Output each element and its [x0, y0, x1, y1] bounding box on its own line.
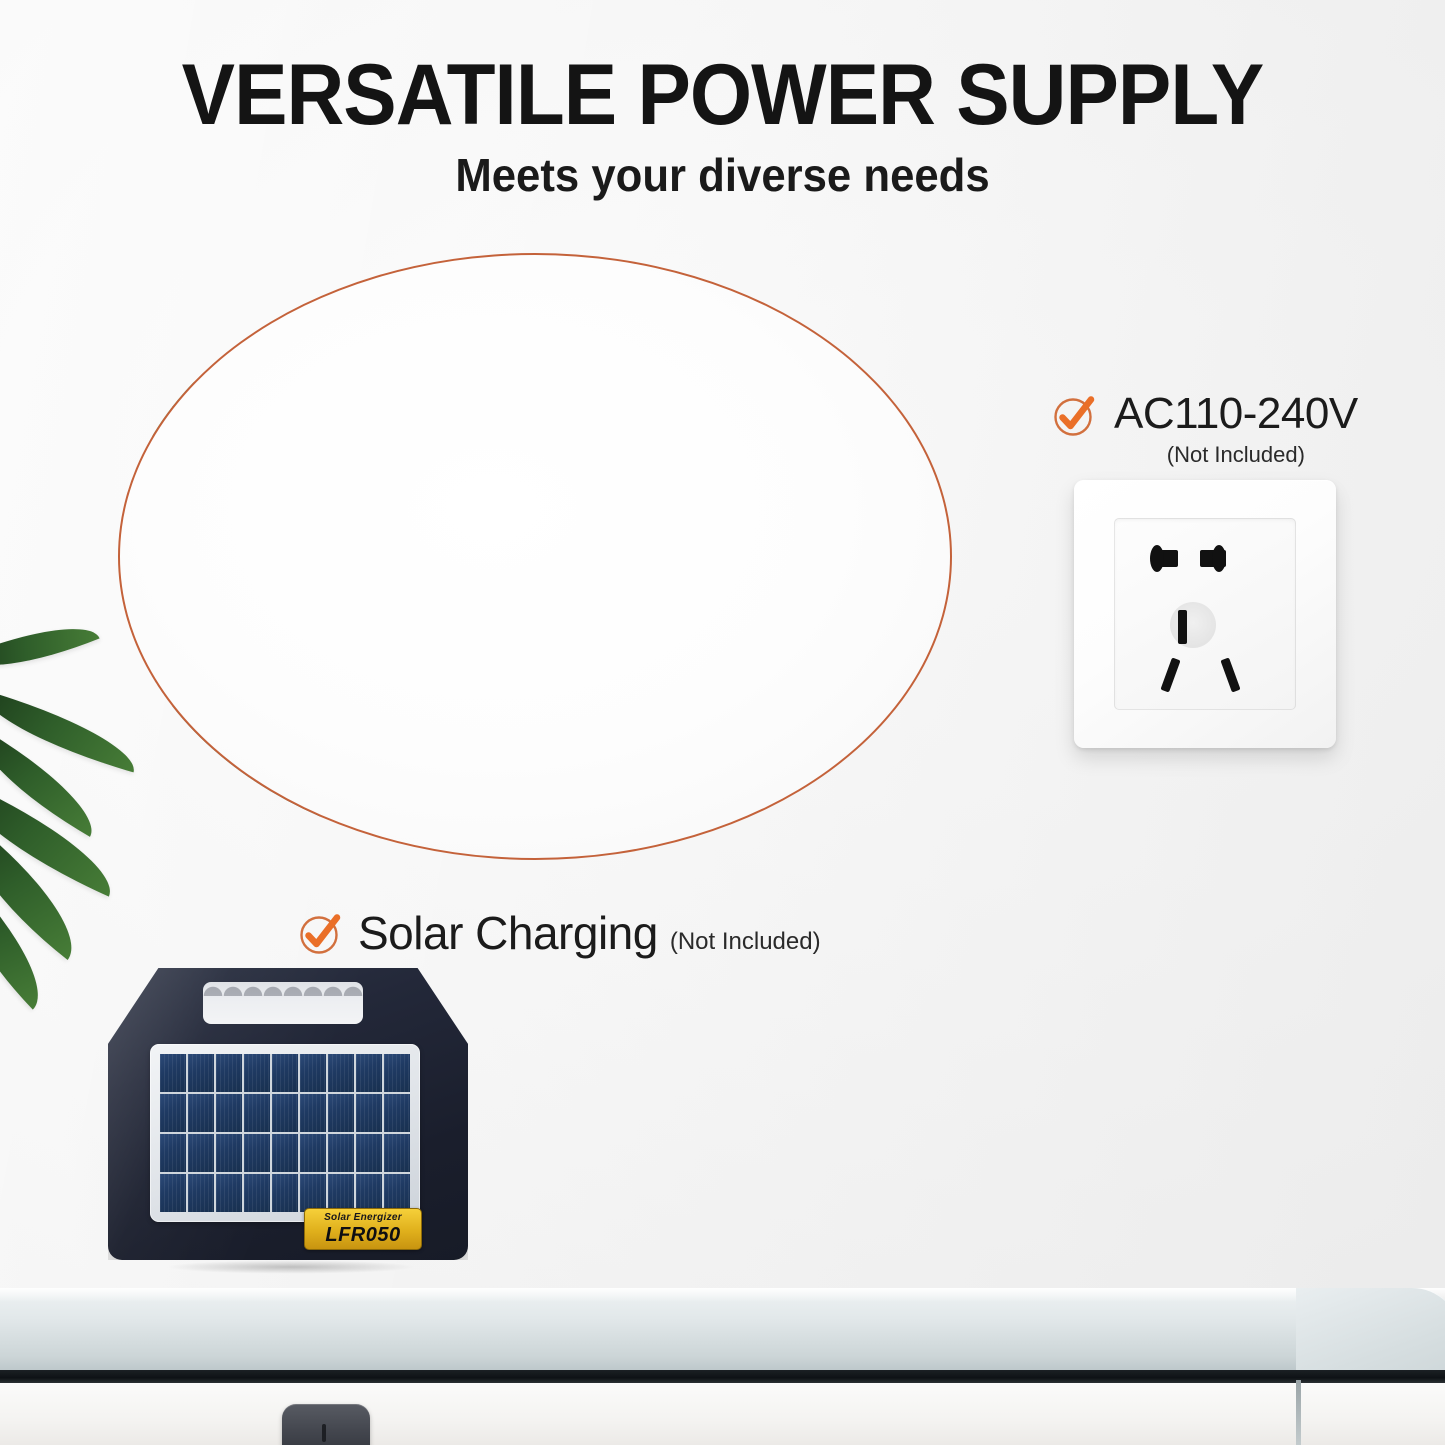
solar-energizer-unit: Solar Energizer LFR050: [108, 968, 468, 1268]
solar-cell: [160, 1094, 186, 1132]
ellipse-outline: [118, 253, 952, 860]
badge-model-label: LFR050: [325, 1225, 400, 1245]
solar-cell: [328, 1134, 354, 1172]
solar-cell: [328, 1174, 354, 1212]
solar-cell: [160, 1174, 186, 1212]
socket-slot-bottom-left: [1160, 657, 1180, 692]
solar-cell: [216, 1054, 242, 1092]
solar-cell: [272, 1094, 298, 1132]
countertop-shadow-gap: [0, 1370, 1445, 1383]
solar-panel-frame: [150, 1044, 420, 1222]
solar-cell: [216, 1134, 242, 1172]
solar-cell: [160, 1134, 186, 1172]
solar-cell: [356, 1134, 382, 1172]
cabinet-right-edge: [1296, 1380, 1301, 1445]
solar-cell: [244, 1054, 270, 1092]
solar-cell: [300, 1054, 326, 1092]
product-marketing-image: VERSATILE POWER SUPPLY Meets your divers…: [0, 0, 1445, 1445]
feature-note: (Not Included): [1167, 444, 1305, 466]
solar-cell: [160, 1054, 186, 1092]
feature-ac-power: AC110-240V (Not Included): [1050, 392, 1358, 466]
feature-note: (Not Included): [670, 928, 821, 956]
feature-title: AC110-240V: [1114, 392, 1358, 436]
carry-handle-grip: [203, 982, 363, 996]
solar-cell: [384, 1094, 410, 1132]
page-title: VERSATILE POWER SUPPLY: [51, 52, 1395, 138]
solar-panel-cells: [160, 1054, 410, 1212]
solar-cell: [188, 1174, 214, 1212]
solar-cell: [272, 1134, 298, 1172]
solar-cell: [188, 1134, 214, 1172]
cabinet-drawer-front: [0, 1383, 1445, 1445]
wall-power-socket: [1074, 480, 1336, 748]
drawer-handle-slot: [322, 1424, 326, 1442]
solar-cell: [300, 1174, 326, 1212]
solar-cell: [272, 1174, 298, 1212]
check-circle-icon: [296, 910, 342, 956]
solar-cell: [300, 1094, 326, 1132]
solar-cell: [216, 1094, 242, 1132]
solar-cell: [356, 1054, 382, 1092]
solar-cell: [384, 1054, 410, 1092]
solar-cell: [300, 1134, 326, 1172]
check-circle-icon: [1050, 392, 1096, 438]
solar-cell: [328, 1094, 354, 1132]
solar-cell: [356, 1174, 382, 1212]
socket-center-dimple: [1170, 602, 1216, 648]
solar-cell: [384, 1174, 410, 1212]
solar-cell: [216, 1174, 242, 1212]
feature-solar-charging: Solar Charging (Not Included): [296, 906, 821, 960]
solar-cell: [188, 1094, 214, 1132]
solar-cell: [188, 1054, 214, 1092]
feature-title: Solar Charging: [358, 906, 658, 960]
solar-cell: [328, 1054, 354, 1092]
socket-slot-bottom-right: [1220, 657, 1240, 692]
solar-cell: [244, 1134, 270, 1172]
solar-cell: [244, 1174, 270, 1212]
page-subtitle: Meets your diverse needs: [36, 152, 1409, 198]
socket-slot-center: [1178, 610, 1187, 644]
product-badge: Solar Energizer LFR050: [304, 1208, 422, 1250]
drawer-handle[interactable]: [282, 1404, 370, 1445]
countertop-highlight: [0, 1288, 1445, 1302]
solar-cell: [384, 1134, 410, 1172]
solar-cell: [244, 1094, 270, 1132]
socket-faceplate-inner: [1114, 518, 1296, 710]
badge-brand-label: Solar Energizer: [324, 1213, 402, 1223]
socket-slot-top-left-round: [1150, 545, 1164, 572]
solar-cell: [272, 1054, 298, 1092]
solar-cell: [356, 1094, 382, 1132]
socket-slot-top-right-round: [1212, 545, 1226, 572]
